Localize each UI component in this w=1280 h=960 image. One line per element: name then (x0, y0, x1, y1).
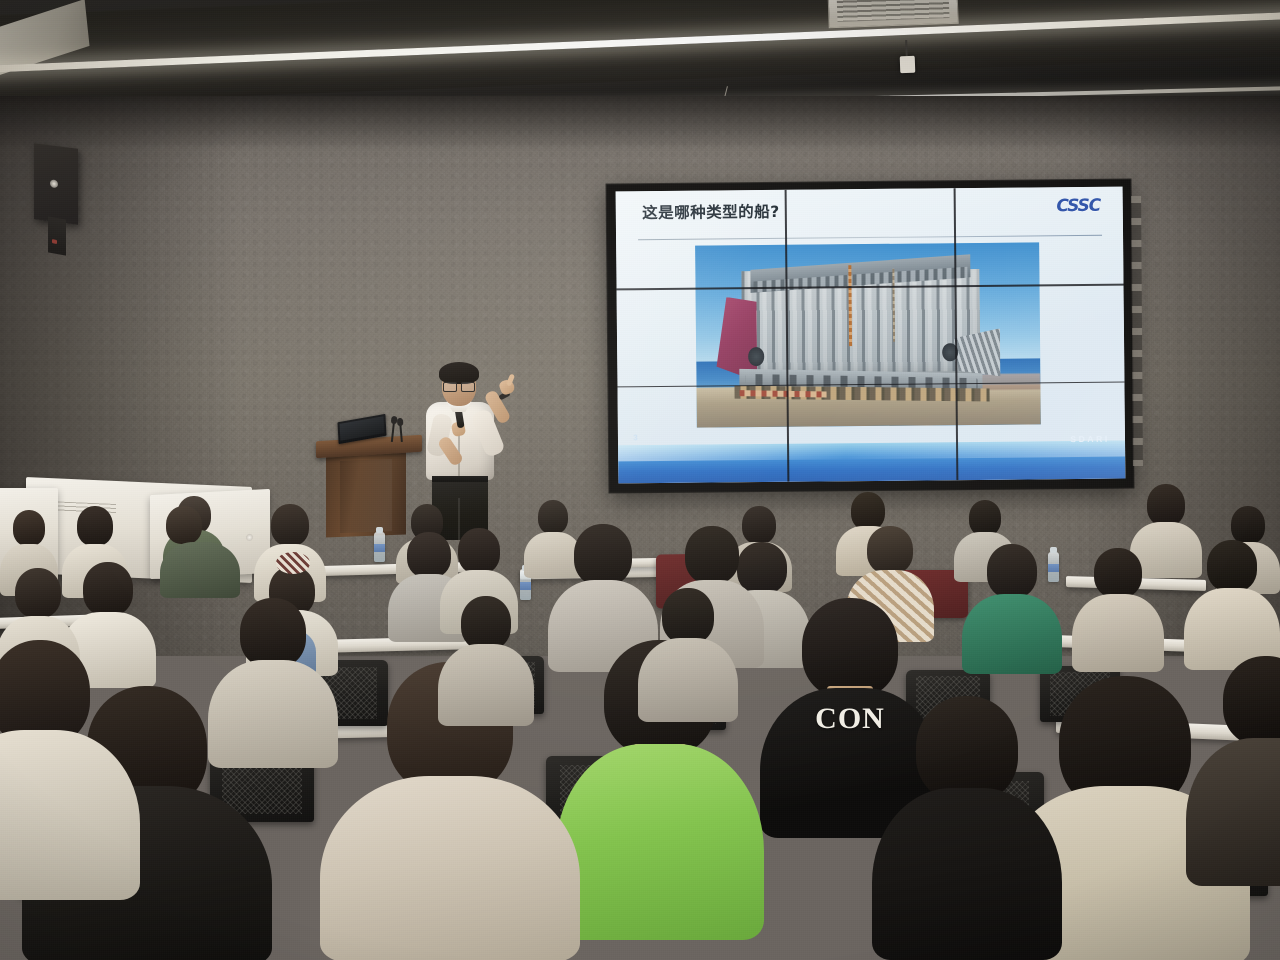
person-torso (1072, 594, 1164, 672)
person-torso (638, 638, 738, 722)
bottle-label-1 (374, 544, 385, 552)
audience-person-teal-sweater (962, 544, 1062, 674)
podium-gooseneck-microphone-2 (399, 422, 403, 442)
person-head (166, 506, 202, 544)
person-torso (208, 660, 338, 768)
slide-photo-ship-block (695, 243, 1041, 427)
audience-person-mid-filler-2 (638, 588, 738, 722)
person-head (662, 588, 714, 644)
audience-person-left-mid (208, 598, 338, 768)
lecture-hall-photo: 这是哪种类型的船? CSSC (0, 0, 1280, 960)
person-torso (438, 644, 534, 726)
person-head (574, 524, 632, 586)
person-head (867, 526, 913, 574)
presenter-glasses (443, 382, 475, 390)
person-head (1094, 548, 1142, 598)
person-head (77, 506, 113, 546)
audience-person-black-shirt-right (872, 696, 1062, 960)
water-bottle-1 (374, 532, 385, 562)
person-head (83, 562, 133, 616)
person-head (1231, 506, 1265, 544)
person-torso (1186, 738, 1280, 886)
audience-person-row3-7 (1184, 540, 1280, 670)
wall-mounted-speaker (34, 143, 78, 224)
person-head (1207, 540, 1257, 592)
person-head (271, 504, 309, 546)
video-wall-side-mount (1131, 196, 1143, 466)
person-head (916, 696, 1018, 802)
person-head (240, 598, 306, 668)
speaker-indicator-led (50, 179, 58, 188)
person-torso (556, 744, 764, 940)
person-head (461, 596, 511, 650)
video-wall-screen[interactable]: 这是哪种类型的船? CSSC (616, 187, 1126, 484)
person-head (15, 568, 61, 618)
person-torso (962, 594, 1062, 674)
presenter-hair (439, 362, 479, 384)
person-head (685, 526, 739, 584)
hair-scrunchie (276, 552, 310, 574)
photo-hull-block (716, 258, 1007, 402)
audience-person-mid-filler-1 (438, 596, 534, 726)
person-torso (320, 776, 580, 960)
wall-speaker-mount (48, 216, 66, 255)
person-head (13, 510, 45, 546)
person-torso (0, 730, 140, 900)
audience-area: CON (0, 470, 1280, 960)
hull-access-hole-1 (748, 347, 764, 365)
ceiling-ac-vent (827, 0, 958, 28)
person-torso (160, 542, 240, 598)
audience-person-right-mid (1186, 656, 1280, 886)
person-head (1223, 656, 1280, 746)
person-head (987, 544, 1037, 598)
slide-page-number: 3 (633, 433, 638, 442)
audience-person-olive-jacket (160, 506, 240, 598)
person-head (969, 500, 1001, 536)
audience-person-row3-6 (1072, 548, 1164, 672)
presentation-slide: 这是哪种类型的船? CSSC (616, 187, 1126, 484)
person-torso (872, 788, 1062, 960)
person-head (802, 598, 898, 698)
led-video-wall[interactable]: 这是哪种类型的船? CSSC (607, 179, 1134, 492)
person-head (458, 528, 500, 574)
slide-title-underline (638, 235, 1102, 240)
person-head (851, 492, 885, 530)
bottle-label-2 (520, 582, 531, 590)
cabinet-knob-2 (246, 533, 253, 540)
slide-title: 这是哪种类型的船? (642, 200, 780, 223)
cssc-logo: CSSC (1056, 196, 1100, 216)
speaker-power-led (52, 239, 57, 244)
audience-person-foreground-far-left (0, 640, 140, 900)
ceiling-sensor (900, 56, 916, 74)
person-head (1147, 484, 1185, 526)
sdari-brand-footer: SDARI (1070, 434, 1110, 444)
